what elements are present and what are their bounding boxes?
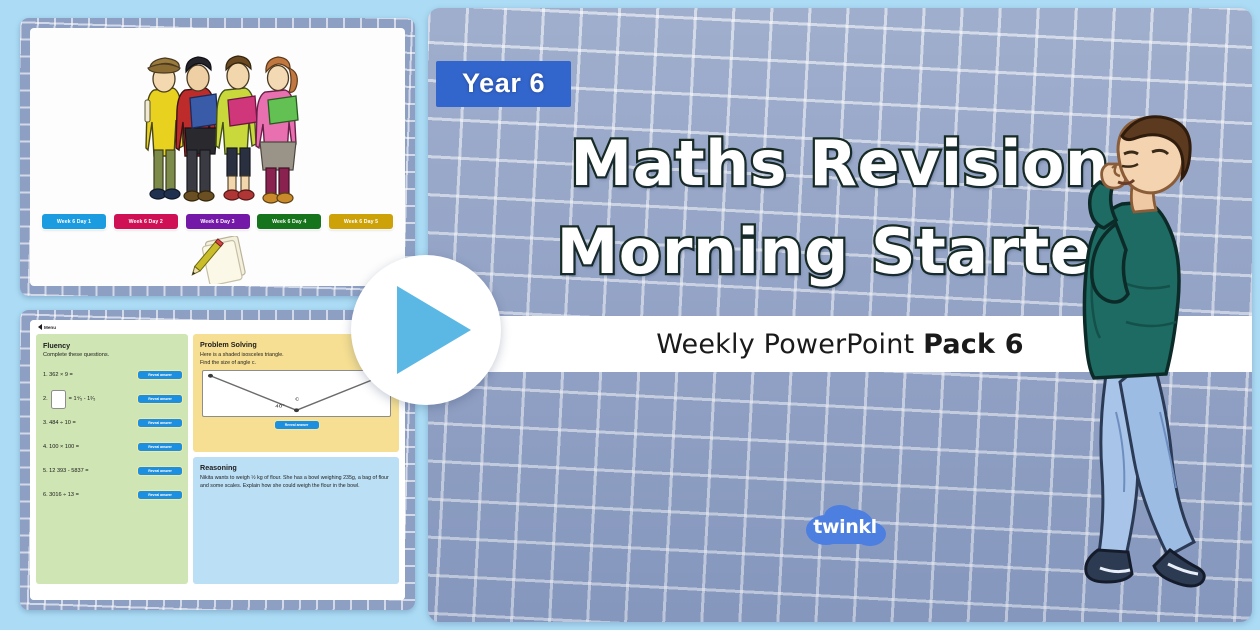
day-button-5-label: Week 6 Day 5 [344, 219, 378, 225]
q5-text: 12 393 - 5837 = [49, 468, 88, 474]
q6-text: 3016 ÷ 13 = [49, 492, 79, 498]
fluency-question-3-text: 3. 484 ÷ 10 = [43, 420, 76, 426]
isosceles-triangle-diagram: c 40° [202, 370, 391, 417]
q4-text: 100 × 100 = [49, 444, 79, 450]
menu-label: Menu [44, 325, 56, 330]
subtitle-prefix: Weekly PowerPoint [656, 329, 923, 360]
q2-number: 2. [43, 396, 48, 402]
q3-text: 484 ÷ 10 = [49, 420, 76, 426]
reveal-label-6: Reveal answer [148, 493, 172, 497]
reveal-answer-button-2[interactable]: Reveal answer [138, 395, 182, 403]
subtitle-text: Weekly PowerPoint Pack 6 [656, 329, 1024, 360]
fluency-question-2-text: 2. = 1⁴⁄₅ - 1²⁄₅ [43, 390, 95, 409]
reasoning-body: Nikita wants to weigh ½ kg of flour. She… [200, 474, 393, 490]
fluency-panel: Fluency Complete these questions. 1. 362… [36, 334, 188, 584]
q1-number: 1. [43, 372, 48, 378]
reveal-answer-button-1[interactable]: Reveal answer [138, 371, 182, 379]
fluency-question-1-text: 1. 362 × 9 = [43, 372, 73, 378]
reasoning-panel: Reasoning Nikita wants to weigh ½ kg of … [193, 457, 399, 584]
thinking-boy-illustration [1056, 112, 1246, 608]
reasoning-heading: Reasoning [200, 463, 393, 472]
fluency-question-4-text: 4. 100 × 100 = [43, 444, 79, 450]
fluency-question-4: 4. 100 × 100 = Reveal answer [43, 435, 182, 459]
year-badge: Year 6 [436, 61, 571, 107]
fluency-question-3: 3. 484 ÷ 10 = Reveal answer [43, 411, 182, 435]
fluency-question-6-text: 6. 3016 ÷ 13 = [43, 492, 79, 498]
q4-number: 4. [43, 444, 48, 450]
reveal-answer-button-6[interactable]: Reveal answer [138, 491, 182, 499]
svg-text:c: c [295, 397, 299, 403]
day-button-1-label: Week 6 Day 1 [57, 219, 91, 225]
day-button-4-label: Week 6 Day 4 [272, 219, 306, 225]
worksheet-slide: Menu Fluency Complete these questions. 1… [30, 320, 405, 600]
day-button-5[interactable]: Week 6 Day 5 [329, 214, 393, 229]
thumbnail-slide-menu[interactable]: Week 6 Day 1 Week 6 Day 2 Week 6 Day 3 W… [20, 18, 415, 296]
q5-number: 5. [43, 468, 48, 474]
day-button-3[interactable]: Week 6 Day 3 [186, 214, 250, 229]
subtitle-pack: Pack 6 [923, 329, 1024, 360]
menu-back-button[interactable]: Menu [38, 324, 56, 330]
q1-text: 362 × 9 = [49, 372, 73, 378]
year-badge-label: Year 6 [462, 68, 545, 98]
fluency-subheading: Complete these questions. [43, 352, 182, 358]
day-button-4[interactable]: Week 6 Day 4 [257, 214, 321, 229]
back-arrow-icon [38, 324, 42, 330]
reveal-label-3: Reveal answer [148, 421, 172, 425]
fluency-question-6: 6. 3016 ÷ 13 = Reveal answer [43, 483, 182, 507]
reveal-label-5: Reveal answer [148, 469, 172, 473]
pencil-and-paper-illustration [175, 236, 260, 284]
play-button[interactable] [351, 255, 501, 405]
fluency-question-1: 1. 362 × 9 = Reveal answer [43, 363, 182, 387]
four-students-illustration [138, 38, 313, 218]
answer-input-box[interactable] [51, 390, 66, 409]
q6-number: 6. [43, 492, 48, 498]
day-button-2[interactable]: Week 6 Day 2 [114, 214, 178, 229]
twinkl-wordmark: twinkl [800, 500, 890, 556]
day-button-1[interactable]: Week 6 Day 1 [42, 214, 106, 229]
main-cover-panel: Year 6 Maths Revision Morning Starter We… [428, 8, 1252, 622]
day-button-3-label: Week 6 Day 3 [200, 219, 234, 225]
reveal-answer-button-4[interactable]: Reveal answer [138, 443, 182, 451]
reveal-label-4: Reveal answer [148, 445, 172, 449]
fluency-question-5-text: 5. 12 393 - 5837 = [43, 468, 89, 474]
play-triangle-icon [397, 286, 471, 374]
thumbnail-slide-menu-content: Week 6 Day 1 Week 6 Day 2 Week 6 Day 3 W… [30, 28, 405, 286]
fluency-question-5: 5. 12 393 - 5837 = Reveal answer [43, 459, 182, 483]
reveal-label-ps: Reveal answer [285, 423, 309, 427]
q3-number: 3. [43, 420, 48, 426]
worksheet-columns: Fluency Complete these questions. 1. 362… [36, 334, 399, 584]
reveal-label-2: Reveal answer [148, 397, 172, 401]
q2-text: = 1⁴⁄₅ - 1²⁄₅ [69, 396, 96, 402]
day-button-row: Week 6 Day 1 Week 6 Day 2 Week 6 Day 3 W… [42, 214, 393, 229]
fluency-heading: Fluency [43, 341, 182, 350]
reveal-answer-button-3[interactable]: Reveal answer [138, 419, 182, 427]
fluency-question-2: 2. = 1⁴⁄₅ - 1²⁄₅ Reveal answer [43, 387, 182, 411]
day-button-2-label: Week 6 Day 2 [129, 219, 163, 225]
reveal-answer-button-problem-solving[interactable]: Reveal answer [275, 421, 319, 429]
reveal-answer-button-5[interactable]: Reveal answer [138, 467, 182, 475]
twinkl-logo: twinkl [800, 500, 890, 556]
thumbnail-slide-worksheet-content: Menu Fluency Complete these questions. 1… [30, 320, 405, 600]
reveal-label-1: Reveal answer [148, 373, 172, 377]
svg-text:40°: 40° [275, 404, 284, 409]
